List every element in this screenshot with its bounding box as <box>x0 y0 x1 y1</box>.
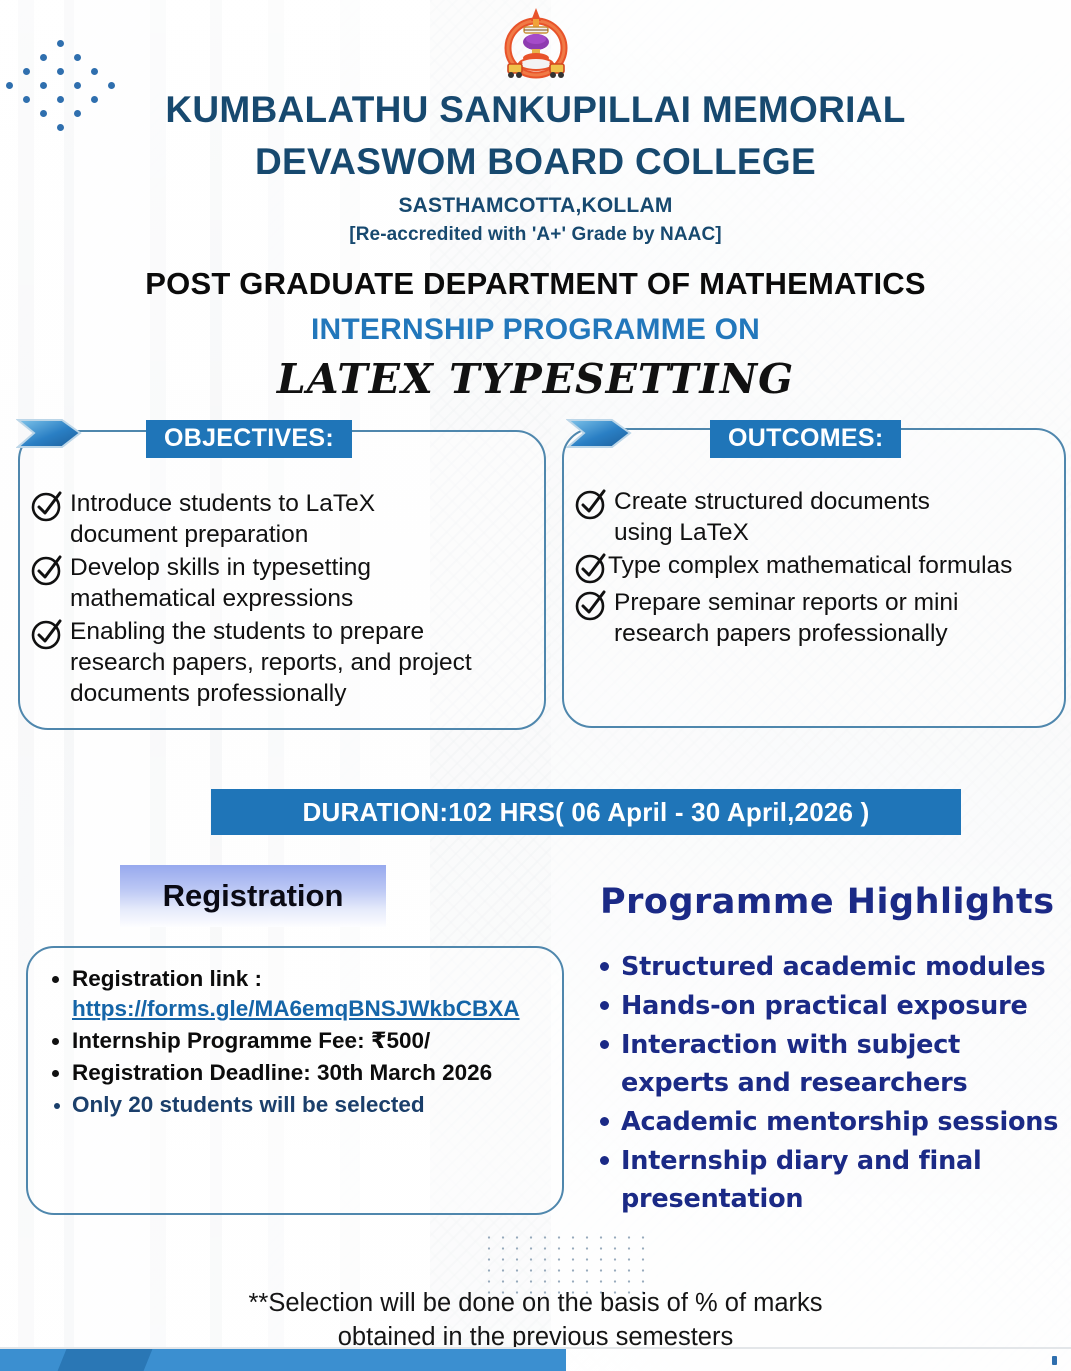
objective-item: Introduce students to LaTeX document pre… <box>30 488 536 550</box>
duration-banner: DURATION:102 HRS( 06 April - 30 April,20… <box>211 789 961 835</box>
check-circle-icon <box>30 553 64 587</box>
highlight-item: Academic mentorship sessions <box>600 1103 1071 1141</box>
bottom-accent-bar <box>0 1349 566 1371</box>
bullet-icon <box>600 1156 609 1165</box>
college-emblem-icon <box>0 6 1071 80</box>
objective-text: Enabling the students to prepare researc… <box>70 616 472 709</box>
bottom-corner-mark <box>1052 1356 1057 1365</box>
outcome-item: Type complex mathematical formulas <box>574 550 1056 585</box>
check-circle-icon <box>30 617 64 651</box>
registration-fee-item: Internship Programme Fee: ₹500/ <box>46 1026 548 1056</box>
objectives-list: Introduce students to LaTeX document pre… <box>30 488 536 711</box>
footer-note-line1: **Selection will be done on the basis of… <box>0 1286 1071 1320</box>
highlight-item: Internship diary and final presentation <box>600 1142 1071 1218</box>
objective-text: Develop skills in typesetting mathematic… <box>70 552 371 614</box>
highlight-text: Hands-on practical exposure <box>621 987 1028 1025</box>
registration-link-item: Registration link : https://forms.gle/MA… <box>46 964 548 1024</box>
bullet-icon <box>600 1001 609 1010</box>
bullet-icon <box>600 1117 609 1126</box>
check-circle-icon <box>30 489 64 523</box>
objectives-card: OBJECTIVES: Introduce students to LaTeX … <box>18 430 546 730</box>
registration-link[interactable]: https://forms.gle/MA6emqBNSJWkbCBXA <box>72 996 520 1021</box>
objective-item: Develop skills in typesetting mathematic… <box>30 552 536 614</box>
registration-chip: Registration <box>120 865 386 927</box>
outcome-item: Prepare seminar reports or mini research… <box>574 587 1056 649</box>
outcomes-card: OUTCOMES: Create structured documents us… <box>562 428 1066 728</box>
highlights-list: Structured academic modules Hands-on pra… <box>600 948 1071 1219</box>
objective-text: Introduce students to LaTeX document pre… <box>70 488 375 550</box>
bullet-icon <box>600 1040 609 1049</box>
outcomes-title: OUTCOMES: <box>710 420 901 458</box>
footer-note: **Selection will be done on the basis of… <box>0 1286 1071 1354</box>
outcome-text: Prepare seminar reports or mini research… <box>614 587 958 649</box>
institution-name-line2: DEVASWOM BOARD COLLEGE <box>0 136 1071 188</box>
bullet-icon <box>600 962 609 971</box>
outcomes-list: Create structured documents using LaTeX … <box>574 486 1056 651</box>
highlight-text: Interaction with subject experts and res… <box>621 1026 967 1102</box>
highlight-text: Academic mentorship sessions <box>621 1103 1058 1141</box>
highlights-title: Programme Highlights <box>600 882 1070 922</box>
programme-topic: LATEX TYPESETTING <box>0 355 1071 403</box>
outcome-item: Create structured documents using LaTeX <box>574 486 1056 548</box>
department-title: POST GRADUATE DEPARTMENT OF MATHEMATICS <box>0 266 1071 302</box>
institution-name-line1: KUMBALATHU SANKUPILLAI MEMORIAL <box>0 84 1071 136</box>
institution-location: SASTHAMCOTTA,KOLLAM <box>0 194 1071 218</box>
registration-card: Registration link : https://forms.gle/MA… <box>26 946 564 1215</box>
objectives-title: OBJECTIVES: <box>146 420 352 458</box>
outcome-text: Create structured documents using LaTeX <box>614 486 930 548</box>
chevron-banner-icon <box>16 414 86 452</box>
check-circle-icon <box>574 551 608 585</box>
registration-link-label: Registration link : <box>72 966 262 991</box>
objective-item: Enabling the students to prepare researc… <box>30 616 536 709</box>
highlight-text: Internship diary and final presentation <box>621 1142 982 1218</box>
registration-chip-label: Registration <box>163 878 344 914</box>
highlight-item: Interaction with subject experts and res… <box>600 1026 1071 1102</box>
highlight-item: Structured academic modules <box>600 948 1071 986</box>
programme-subtitle: INTERNSHIP PROGRAMME ON <box>0 313 1071 347</box>
registration-deadline-item: Registration Deadline: 30th March 2026 <box>46 1058 548 1088</box>
institution-accreditation: [Re-accredited with 'A+' Grade by NAAC] <box>0 224 1071 246</box>
highlight-text: Structured academic modules <box>621 948 1045 986</box>
check-circle-icon <box>574 487 608 521</box>
registration-seats-item: Only 20 students will be selected <box>46 1090 548 1120</box>
institution-header: KUMBALATHU SANKUPILLAI MEMORIAL DEVASWOM… <box>0 84 1071 246</box>
chevron-banner-icon <box>566 414 636 452</box>
check-circle-icon <box>574 588 608 622</box>
duration-text: DURATION:102 HRS( 06 April - 30 April,20… <box>303 797 870 828</box>
outcome-text: Type complex mathematical formulas <box>608 550 1012 581</box>
highlight-item: Hands-on practical exposure <box>600 987 1071 1025</box>
